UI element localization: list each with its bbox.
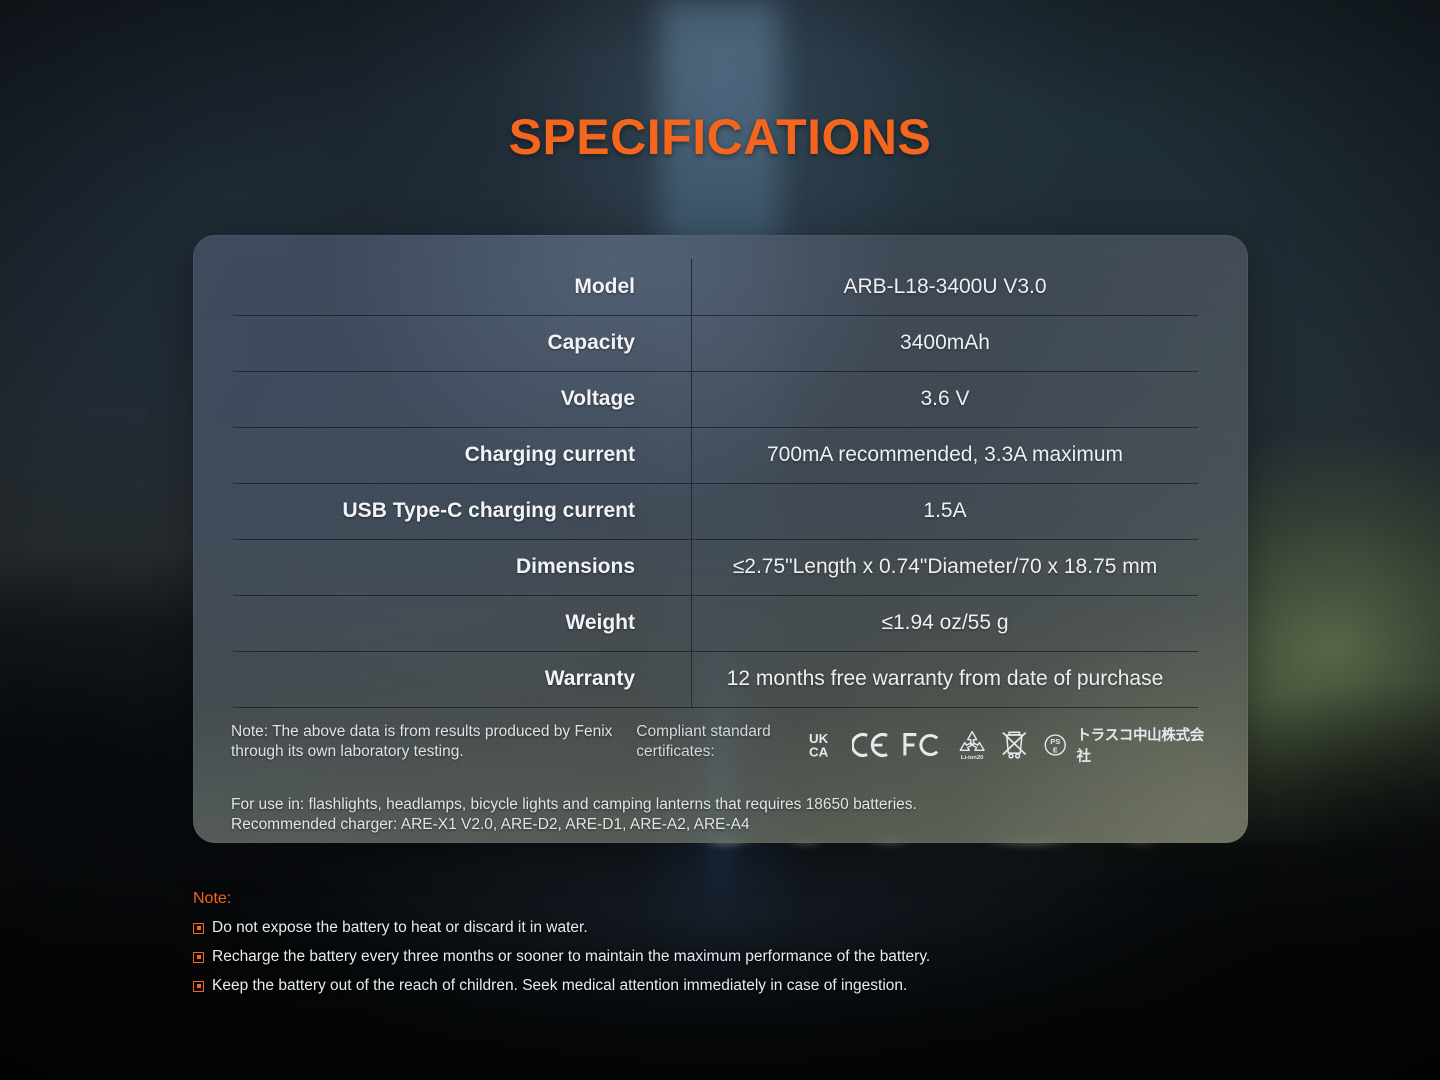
svg-text:Li-ion20: Li-ion20 bbox=[961, 755, 984, 761]
table-row: Charging current 700mA recommended, 3.3A… bbox=[233, 427, 1198, 483]
list-item: Recharge the battery every three months … bbox=[193, 948, 1193, 966]
bottom-note-text: Do not expose the battery to heat or dis… bbox=[212, 919, 588, 937]
ukca-mark-icon: UK CA bbox=[809, 730, 839, 760]
spec-label-charging-current: Charging current bbox=[233, 427, 692, 483]
svg-text:E: E bbox=[1053, 747, 1058, 755]
table-row: Warranty 12 months free warranty from da… bbox=[233, 651, 1198, 707]
trusco-nakayama-text: トラスコ中山株式会社 bbox=[1076, 724, 1211, 766]
table-row: USB Type-C charging current 1.5A bbox=[233, 483, 1198, 539]
spec-value-charging-current: 700mA recommended, 3.3A maximum bbox=[692, 427, 1199, 483]
spec-value-voltage: 3.6 V bbox=[692, 371, 1199, 427]
certificate-marks: UK CA bbox=[809, 724, 1211, 766]
laboratory-testing-note: Note: The above data is from results pro… bbox=[231, 722, 614, 762]
bottom-notes: Note: Do not expose the battery to heat … bbox=[193, 890, 1193, 1006]
usage-and-charger-block: For use in: flashlights, headlamps, bicy… bbox=[231, 795, 1211, 835]
bottom-notes-title: Note: bbox=[193, 890, 1193, 908]
square-bullet-icon bbox=[193, 923, 204, 934]
usage-line: For use in: flashlights, headlamps, bicy… bbox=[231, 795, 1211, 815]
table-row: Voltage 3.6 V bbox=[233, 371, 1198, 427]
recommended-charger-line: Recommended charger: ARE-X1 V2.0, ARE-D2… bbox=[231, 815, 1211, 835]
specifications-page: SPECIFICATIONS Model ARB-L18-3400U V3.0 … bbox=[0, 0, 1440, 1080]
table-row: Capacity 3400mAh bbox=[233, 315, 1198, 371]
spec-label-dimensions: Dimensions bbox=[233, 539, 692, 595]
square-bullet-icon bbox=[193, 952, 204, 963]
spec-value-warranty: 12 months free warranty from date of pur… bbox=[692, 651, 1199, 707]
bottom-note-text: Recharge the battery every three months … bbox=[212, 948, 930, 966]
bottom-note-text: Keep the battery out of the reach of chi… bbox=[212, 977, 907, 995]
table-row: Weight ≤1.94 oz/55 g bbox=[233, 595, 1198, 651]
specifications-card: Model ARB-L18-3400U V3.0 Capacity 3400mA… bbox=[193, 235, 1248, 843]
svg-text:PS: PS bbox=[1050, 737, 1060, 746]
pse-mark-icon: PS E bbox=[1041, 732, 1069, 758]
spec-value-capacity: 3400mAh bbox=[692, 315, 1199, 371]
table-row: Dimensions ≤2.75"Length x 0.74"Diameter/… bbox=[233, 539, 1198, 595]
card-footer-row: Note: The above data is from results pro… bbox=[231, 722, 1211, 766]
spec-label-usb-type-c-charging-current: USB Type-C charging current bbox=[233, 483, 692, 539]
weee-crossed-bin-icon bbox=[1001, 729, 1028, 761]
spec-value-dimensions: ≤2.75"Length x 0.74"Diameter/70 x 18.75 … bbox=[692, 539, 1199, 595]
spec-label-weight: Weight bbox=[233, 595, 692, 651]
fcc-mark-icon bbox=[903, 732, 943, 758]
spec-label-warranty: Warranty bbox=[233, 651, 692, 707]
spec-value-usb-type-c-charging-current: 1.5A bbox=[692, 483, 1199, 539]
spec-label-model: Model bbox=[233, 259, 692, 315]
ce-mark-icon bbox=[852, 731, 890, 759]
spec-value-weight: ≤1.94 oz/55 g bbox=[692, 595, 1199, 651]
spec-label-capacity: Capacity bbox=[233, 315, 692, 371]
list-item: Do not expose the battery to heat or dis… bbox=[193, 919, 1193, 937]
recycling-mobius-icon: Li-ion20 bbox=[956, 728, 988, 762]
specifications-table: Model ARB-L18-3400U V3.0 Capacity 3400mA… bbox=[233, 259, 1198, 708]
page-title: SPECIFICATIONS bbox=[0, 108, 1440, 166]
svg-text:CA: CA bbox=[809, 744, 829, 759]
table-row: Model ARB-L18-3400U V3.0 bbox=[233, 259, 1198, 315]
square-bullet-icon bbox=[193, 981, 204, 992]
compliance-label: Compliant standard certificates: bbox=[636, 722, 807, 762]
spec-value-model: ARB-L18-3400U V3.0 bbox=[692, 259, 1199, 315]
list-item: Keep the battery out of the reach of chi… bbox=[193, 977, 1193, 995]
spec-label-voltage: Voltage bbox=[233, 371, 692, 427]
